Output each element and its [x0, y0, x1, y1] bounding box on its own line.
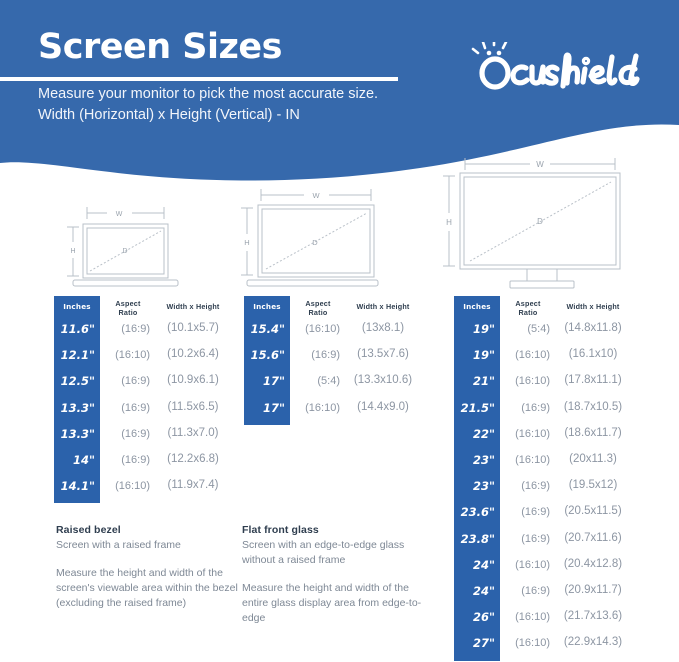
- column-header-aspect-ratio: AspectRatio: [296, 299, 340, 317]
- cell-aspect-ratio: (16:9): [106, 323, 150, 335]
- cell-width-height: (20x11.3): [550, 453, 636, 465]
- cell-inches: 19": [454, 322, 500, 336]
- cell-aspect-ratio: (5:4): [506, 323, 550, 335]
- cell-inches: 23.6": [454, 505, 500, 519]
- cell-aspect-ratio: (16:10): [106, 349, 150, 361]
- column-header-inches: Inches: [54, 302, 100, 311]
- cell-aspect-ratio: (16:9): [506, 402, 550, 414]
- table-medium-sizes: InchesAspectRatioWidth x Height15.4"(16:…: [244, 296, 424, 425]
- cell-inches: 26": [454, 610, 500, 624]
- column-header-aspect-ratio: AspectRatio: [506, 299, 550, 317]
- cell-inches: 23.8": [454, 532, 500, 546]
- cell-aspect-ratio: (16:10): [106, 480, 150, 492]
- cell-aspect-ratio: (16:10): [506, 559, 550, 571]
- note-subtitle: Screen with a raised frame: [56, 538, 238, 553]
- cell-width-height: (11.3x7.0): [150, 427, 236, 439]
- cell-inches: 17": [244, 401, 290, 415]
- cell-aspect-ratio: (16:10): [506, 428, 550, 440]
- cell-aspect-ratio: (16:10): [506, 375, 550, 387]
- diagram-monitor-large: W H D: [432, 151, 632, 289]
- note-title: Raised bezel: [56, 524, 238, 536]
- cell-width-height: (10.1x5.7): [150, 322, 236, 334]
- cell-inches: 15.6": [244, 348, 290, 362]
- cell-aspect-ratio: (16:9): [106, 402, 150, 414]
- ocushield-logo-icon: [470, 42, 650, 94]
- cell-aspect-ratio: (16:9): [106, 375, 150, 387]
- cell-inches: 23": [454, 479, 500, 493]
- cell-aspect-ratio: (16:9): [506, 480, 550, 492]
- cell-aspect-ratio: (16:9): [506, 533, 550, 545]
- diagram-large-width-label: W: [536, 160, 544, 169]
- infographic-page: Screen Sizes Measure your monitor to pic…: [0, 0, 679, 662]
- cell-aspect-ratio: (5:4): [296, 375, 340, 387]
- cell-width-height: (16.1x10): [550, 348, 636, 360]
- cell-aspect-ratio: (16:9): [506, 506, 550, 518]
- page-subtitle: Measure your monitor to pick the most ac…: [38, 84, 418, 126]
- cell-inches: 14.1": [54, 479, 100, 493]
- cell-width-height: (11.5x6.5): [150, 401, 236, 413]
- diagram-medium-diagonal-label: D: [312, 238, 318, 247]
- cell-width-height: (20.4x12.8): [550, 558, 636, 570]
- page-title: Screen Sizes: [38, 30, 282, 65]
- cell-width-height: (12.2x6.8): [150, 453, 236, 465]
- cell-width-height: (13.3x10.6): [340, 374, 426, 386]
- diagram-laptop-diagonal-label: D: [122, 248, 127, 255]
- column-header-width-height: Width x Height: [150, 302, 236, 311]
- cell-aspect-ratio: (16:9): [106, 428, 150, 440]
- cell-width-height: (11.9x7.4): [150, 479, 236, 491]
- cell-width-height: (13.5x7.6): [340, 348, 426, 360]
- table-large-sizes: InchesAspectRatioWidth x Height19"(5:4)(…: [454, 296, 634, 661]
- diagram-large-height-label: H: [446, 218, 452, 227]
- cell-width-height: (18.6x11.7): [550, 427, 636, 439]
- cell-inches: 15.4": [244, 322, 290, 336]
- cell-width-height: (18.7x10.5): [550, 401, 636, 413]
- cell-inches: 21": [454, 374, 500, 388]
- table-laptop-sizes: InchesAspectRatioWidth x Height11.6"(16:…: [54, 296, 234, 503]
- cell-width-height: (14.4x9.0): [340, 401, 426, 413]
- cell-width-height: (14.8x11.8): [550, 322, 636, 334]
- cell-width-height: (10.9x6.1): [150, 374, 236, 386]
- cell-inches: 11.6": [54, 322, 100, 336]
- cell-inches: 14": [54, 453, 100, 467]
- note-title: Flat front glass: [242, 524, 424, 536]
- cell-inches: 13.3": [54, 427, 100, 441]
- cell-width-height: (13x8.1): [340, 322, 426, 334]
- cell-inches: 27": [454, 636, 500, 650]
- ocushield-logo: [470, 42, 650, 94]
- title-divider: [0, 77, 398, 81]
- note-body: Measure the height and width of the enti…: [242, 581, 424, 626]
- cell-width-height: (17.8x11.1): [550, 374, 636, 386]
- cell-inches: 24": [454, 558, 500, 572]
- column-header-inches: Inches: [244, 302, 290, 311]
- cell-inches: 19": [454, 348, 500, 362]
- diagram-large-diagonal-label: D: [537, 217, 543, 226]
- column-header-aspect-ratio: AspectRatio: [106, 299, 150, 317]
- cell-width-height: (21.7x13.6): [550, 610, 636, 622]
- cell-width-height: (20.5x11.5): [550, 505, 636, 517]
- cell-inches: 22": [454, 427, 500, 441]
- diagram-medium-height-label: H: [244, 238, 249, 247]
- note-raised-bezel: Raised bezel Screen with a raised frame …: [56, 524, 238, 611]
- cell-inches: 12.1": [54, 348, 100, 362]
- cell-aspect-ratio: (16:10): [296, 402, 340, 414]
- cell-aspect-ratio: (16:10): [506, 637, 550, 649]
- diagram-laptop-width-label: W: [116, 211, 123, 218]
- diagram-monitor-medium: W H D: [236, 181, 388, 289]
- diagram-laptop: W H D: [60, 196, 184, 288]
- cell-inches: 17": [244, 374, 290, 388]
- note-subtitle: Screen with an edge-to-edge glass withou…: [242, 538, 424, 568]
- cell-aspect-ratio: (16:9): [296, 349, 340, 361]
- cell-width-height: (20.9x11.7): [550, 584, 636, 596]
- note-body: Measure the height and width of the scre…: [56, 566, 238, 611]
- cell-width-height: (22.9x14.3): [550, 636, 636, 648]
- cell-width-height: (10.2x6.4): [150, 348, 236, 360]
- cell-width-height: (19.5x12): [550, 479, 636, 491]
- cell-inches: 21.5": [454, 401, 500, 415]
- column-header-width-height: Width x Height: [340, 302, 426, 311]
- cell-aspect-ratio: (16:10): [296, 323, 340, 335]
- cell-aspect-ratio: (16:10): [506, 349, 550, 361]
- cell-width-height: (20.7x11.6): [550, 532, 636, 544]
- column-header-inches: Inches: [454, 302, 500, 311]
- diagram-medium-width-label: W: [312, 191, 320, 200]
- cell-inches: 13.3": [54, 401, 100, 415]
- diagram-laptop-height-label: H: [70, 248, 75, 255]
- cell-aspect-ratio: (16:10): [506, 454, 550, 466]
- column-header-width-height: Width x Height: [550, 302, 636, 311]
- cell-inches: 24": [454, 584, 500, 598]
- note-flat-front-glass: Flat front glass Screen with an edge-to-…: [242, 524, 424, 626]
- cell-aspect-ratio: (16:9): [506, 585, 550, 597]
- cell-inches: 23": [454, 453, 500, 467]
- cell-inches: 12.5": [54, 374, 100, 388]
- cell-aspect-ratio: (16:9): [106, 454, 150, 466]
- cell-aspect-ratio: (16:10): [506, 611, 550, 623]
